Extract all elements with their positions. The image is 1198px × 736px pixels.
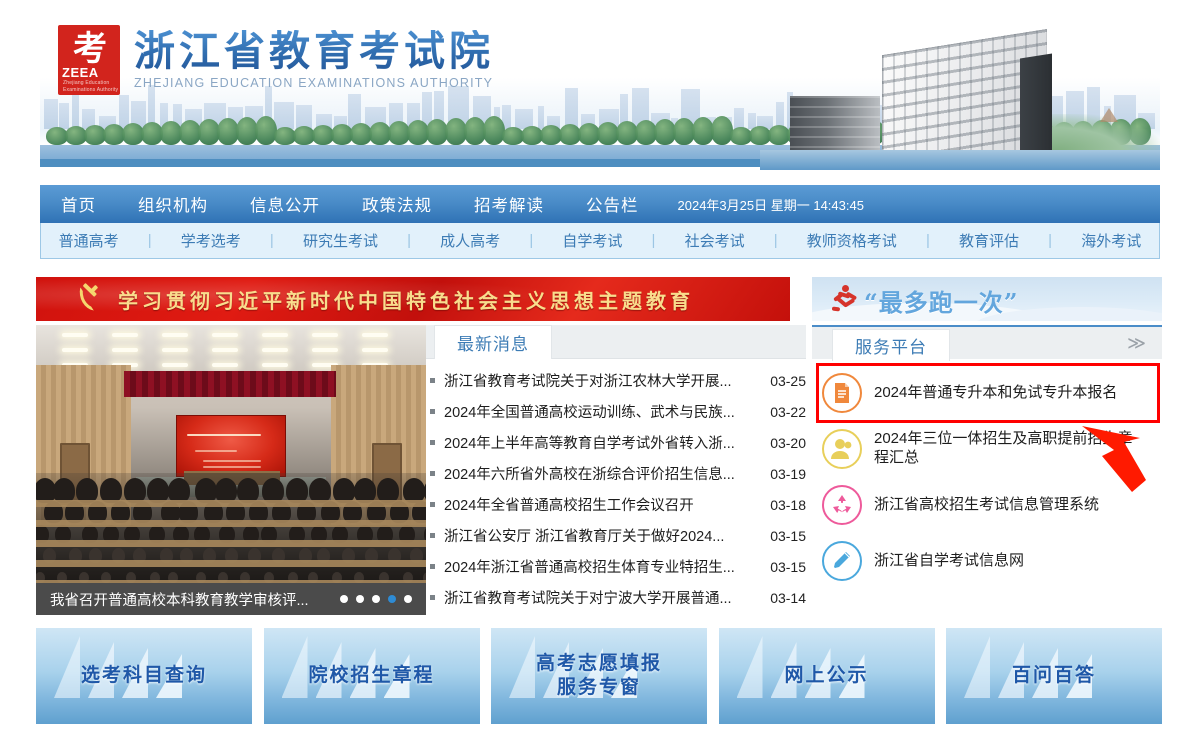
news-title[interactable]: 浙江省公安厅 浙江省教育厅关于做好2024... [444, 525, 752, 546]
service-item-label[interactable]: 浙江省高校招生考试信息管理系统 [874, 496, 1099, 515]
news-tabbar: 最新消息 [426, 325, 806, 359]
news-date: 03-22 [760, 404, 806, 420]
carousel-caption: 我省召开普通高校本科教育教学审核评... [36, 583, 426, 615]
emblem-char: 考 [66, 29, 114, 69]
quick-link-0[interactable]: 选考科目查询 [36, 628, 252, 724]
page-root: 考 ZEEA Zhejiang Education Examinations A… [0, 0, 1198, 736]
header-datetime: 2024年3月25日 星期一 14:43:45 [678, 195, 864, 214]
news-date: 03-25 [760, 373, 806, 389]
subnav-separator: | [407, 232, 411, 249]
bullet-icon [430, 409, 435, 414]
subnav-item-2[interactable]: 研究生考试 [297, 230, 384, 251]
subnav-separator: | [652, 232, 656, 249]
news-row[interactable]: 2024年六所省外高校在浙综合评价招生信息...03-19 [426, 458, 806, 489]
sub-navigation: 普通高考|学考选考|研究生考试|成人高考|自学考试|社会考试|教师资格考试|教育… [40, 223, 1160, 259]
quick-link-label: 高考志愿填报服务专窗 [536, 652, 662, 700]
subnav-item-8[interactable]: 海外考试 [1075, 230, 1147, 251]
hammer-sickle-icon [76, 286, 102, 312]
zeea-emblem-icon: 考 ZEEA Zhejiang Education Examinations A… [58, 25, 120, 95]
subnav-item-1[interactable]: 学考选考 [175, 230, 247, 251]
news-date: 03-19 [760, 466, 806, 482]
party-slogan-banner[interactable]: 学习贯彻习近平新时代中国特色社会主义思想主题教育 [36, 277, 790, 321]
pencil-icon [822, 541, 862, 581]
carousel-dot-3[interactable] [372, 595, 380, 603]
news-date: 03-15 [760, 528, 806, 544]
bullet-icon [430, 533, 435, 538]
nav-item-3[interactable]: 政策法规 [341, 192, 453, 216]
news-date: 03-14 [760, 590, 806, 606]
news-carousel[interactable]: 我省召开普通高校本科教育教学审核评... [36, 325, 426, 615]
news-row[interactable]: 浙江省教育考试院关于对宁波大学开展普通...03-14 [426, 582, 806, 613]
quick-link-label: 选考科目查询 [81, 664, 207, 688]
service-item[interactable]: 2024年普通专升本和免试专升本报名 [812, 365, 1162, 421]
recycle-icon [822, 485, 862, 525]
subnav-separator: | [148, 232, 152, 249]
news-row[interactable]: 2024年全国普通高校运动训练、武术与民族...03-22 [426, 396, 806, 427]
quick-link-1[interactable]: 院校招生章程 [264, 628, 480, 724]
subnav-separator: | [529, 232, 533, 249]
news-row[interactable]: 浙江省公安厅 浙江省教育厅关于做好2024...03-15 [426, 520, 806, 551]
news-row[interactable]: 2024年浙江省普通高校招生体育专业特招生...03-15 [426, 551, 806, 582]
subnav-separator: | [926, 232, 930, 249]
emblem-sub-line-2: Examinations Authority [63, 87, 118, 93]
news-title[interactable]: 浙江省教育考试院关于对宁波大学开展普通... [444, 587, 752, 608]
news-row[interactable]: 2024年全省普通高校招生工作会议召开03-18 [426, 489, 806, 520]
subnav-separator: | [774, 232, 778, 249]
running-person-icon [830, 285, 858, 313]
site-logo[interactable]: 考 ZEEA Zhejiang Education Examinations A… [58, 25, 494, 95]
news-row[interactable]: 浙江省教育考试院关于对浙江农林大学开展...03-25 [426, 365, 806, 396]
news-title[interactable]: 2024年六所省外高校在浙综合评价招生信息... [444, 463, 752, 484]
carousel-dot-2[interactable] [356, 595, 364, 603]
carousel-dots[interactable] [340, 595, 412, 603]
more-chevron-icon[interactable]: ≫ [1127, 333, 1146, 354]
bullet-icon [430, 471, 435, 476]
emblem-abbr: ZEEA [62, 65, 99, 80]
bullet-icon [430, 502, 435, 507]
news-title[interactable]: 2024年全省普通高校招生工作会议召开 [444, 494, 752, 515]
bullet-icon [430, 595, 435, 600]
news-date: 03-15 [760, 559, 806, 575]
service-tabbar: 服务平台 ≫ [812, 325, 1162, 359]
subnav-separator: | [1048, 232, 1052, 249]
nav-item-5[interactable]: 公告栏 [565, 192, 660, 216]
news-title[interactable]: 2024年上半年高等教育自学考试外省转入浙... [444, 432, 752, 453]
service-item-label[interactable]: 2024年普通专升本和免试专升本报名 [874, 384, 1117, 403]
bullet-icon [430, 378, 435, 383]
subnav-item-0[interactable]: 普通高考 [53, 230, 125, 251]
nav-item-0[interactable]: 首页 [40, 192, 117, 216]
quick-link-label: 院校招生章程 [308, 664, 434, 688]
news-title[interactable]: 浙江省教育考试院关于对浙江农林大学开展... [444, 370, 752, 391]
latest-news-panel: 最新消息 浙江省教育考试院关于对浙江农林大学开展...03-252024年全国普… [426, 325, 806, 615]
news-date: 03-20 [760, 435, 806, 451]
carousel-photo [36, 325, 426, 583]
carousel-dot-1[interactable] [340, 595, 348, 603]
news-list: 浙江省教育考试院关于对浙江农林大学开展...03-252024年全国普通高校运动… [426, 365, 806, 613]
nav-item-1[interactable]: 组织机构 [117, 192, 229, 216]
service-item-label[interactable]: 浙江省自学考试信息网 [874, 552, 1024, 571]
news-row[interactable]: 2024年上半年高等教育自学考试外省转入浙...03-20 [426, 427, 806, 458]
bullet-icon [430, 564, 435, 569]
nav-item-2[interactable]: 信息公开 [229, 192, 341, 216]
quick-link-4[interactable]: 百问百答 [946, 628, 1162, 724]
document-icon [822, 373, 862, 413]
emblem-sub-line-1: Zhejiang Education [63, 80, 109, 86]
party-slogan-text: 学习贯彻习近平新时代中国特色社会主义思想主题教育 [118, 285, 694, 314]
subnav-item-5[interactable]: 社会考试 [679, 230, 751, 251]
news-title[interactable]: 2024年全国普通高校运动训练、武术与民族... [444, 401, 752, 422]
nav-item-4[interactable]: 招考解读 [453, 192, 565, 216]
carousel-caption-text: 我省召开普通高校本科教育教学审核评... [50, 589, 309, 610]
annotation-arrow-icon [1080, 420, 1166, 496]
subnav-item-4[interactable]: 自学考试 [556, 230, 628, 251]
tab-latest-news[interactable]: 最新消息 [434, 325, 552, 359]
run-once-title: “最多跑一次” [864, 283, 1019, 318]
service-item[interactable]: 浙江省自学考试信息网 [812, 533, 1162, 589]
news-title[interactable]: 2024年浙江省普通高校招生体育专业特招生... [444, 556, 752, 577]
carousel-dot-4[interactable] [388, 595, 396, 603]
subnav-item-6[interactable]: 教师资格考试 [801, 230, 903, 251]
carousel-dot-5[interactable] [404, 595, 412, 603]
site-header: 考 ZEEA Zhejiang Education Examinations A… [40, 0, 1160, 185]
quick-link-label: 网上公示 [784, 664, 868, 688]
quick-link-label: 百问百答 [1012, 664, 1096, 688]
news-date: 03-18 [760, 497, 806, 513]
subnav-separator: | [270, 232, 274, 249]
headquarters-building-photo [760, 10, 1160, 170]
site-title-en: ZHEJIANG EDUCATION EXAMINATIONS AUTHORIT… [134, 76, 494, 90]
subnav-item-3[interactable]: 成人高考 [434, 230, 506, 251]
tab-service-platform[interactable]: 服务平台 [832, 329, 950, 361]
run-once-banner[interactable]: “最多跑一次” [812, 277, 1162, 321]
quick-link-2[interactable]: 高考志愿填报服务专窗 [491, 628, 707, 724]
quick-link-3[interactable]: 网上公示 [719, 628, 935, 724]
site-title-cn: 浙江省教育考试院 [134, 30, 494, 73]
users-icon [822, 429, 862, 469]
subnav-item-7[interactable]: 教育评估 [953, 230, 1025, 251]
bullet-icon [430, 440, 435, 445]
quick-links-row: 选考科目查询院校招生章程高考志愿填报服务专窗网上公示百问百答 [36, 628, 1162, 724]
main-navigation: 首页组织机构信息公开政策法规招考解读公告栏2024年3月25日 星期一 14:4… [40, 185, 1160, 223]
